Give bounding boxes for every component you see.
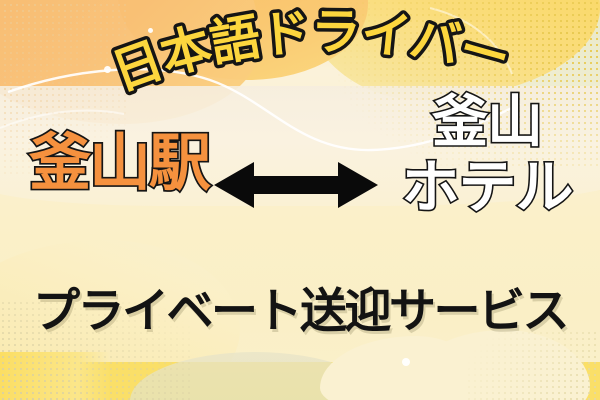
background-bottom-cream-blob-2 xyxy=(320,336,480,400)
background-bottom-yellow-band xyxy=(0,362,600,400)
background-bottom-cream-blob-1 xyxy=(400,330,590,400)
background-bottom-green-blob xyxy=(130,352,380,400)
destination-type-label: ホテル xyxy=(378,160,596,216)
svg-text:日本語ドライバー: 日本語ドライバー xyxy=(105,3,516,102)
service-tagline: プライベート送迎サービス xyxy=(0,288,600,335)
origin-station-label: 釜山駅 xyxy=(10,132,228,194)
halftone-pattern-bottom-right xyxy=(466,330,600,400)
decorative-dot-3 xyxy=(402,358,410,366)
headline-text: 日本語ドライバー xyxy=(105,3,516,102)
bidirectional-arrow-icon xyxy=(214,160,378,210)
background-bottom-left-yellow xyxy=(0,352,110,400)
destination-block: 釜山 ホテル xyxy=(378,96,596,215)
destination-city-label: 釜山 xyxy=(378,96,596,150)
promo-poster: 日本語ドライバー 釜山駅 釜山 ホテル プライベート送迎サービス xyxy=(0,0,600,400)
